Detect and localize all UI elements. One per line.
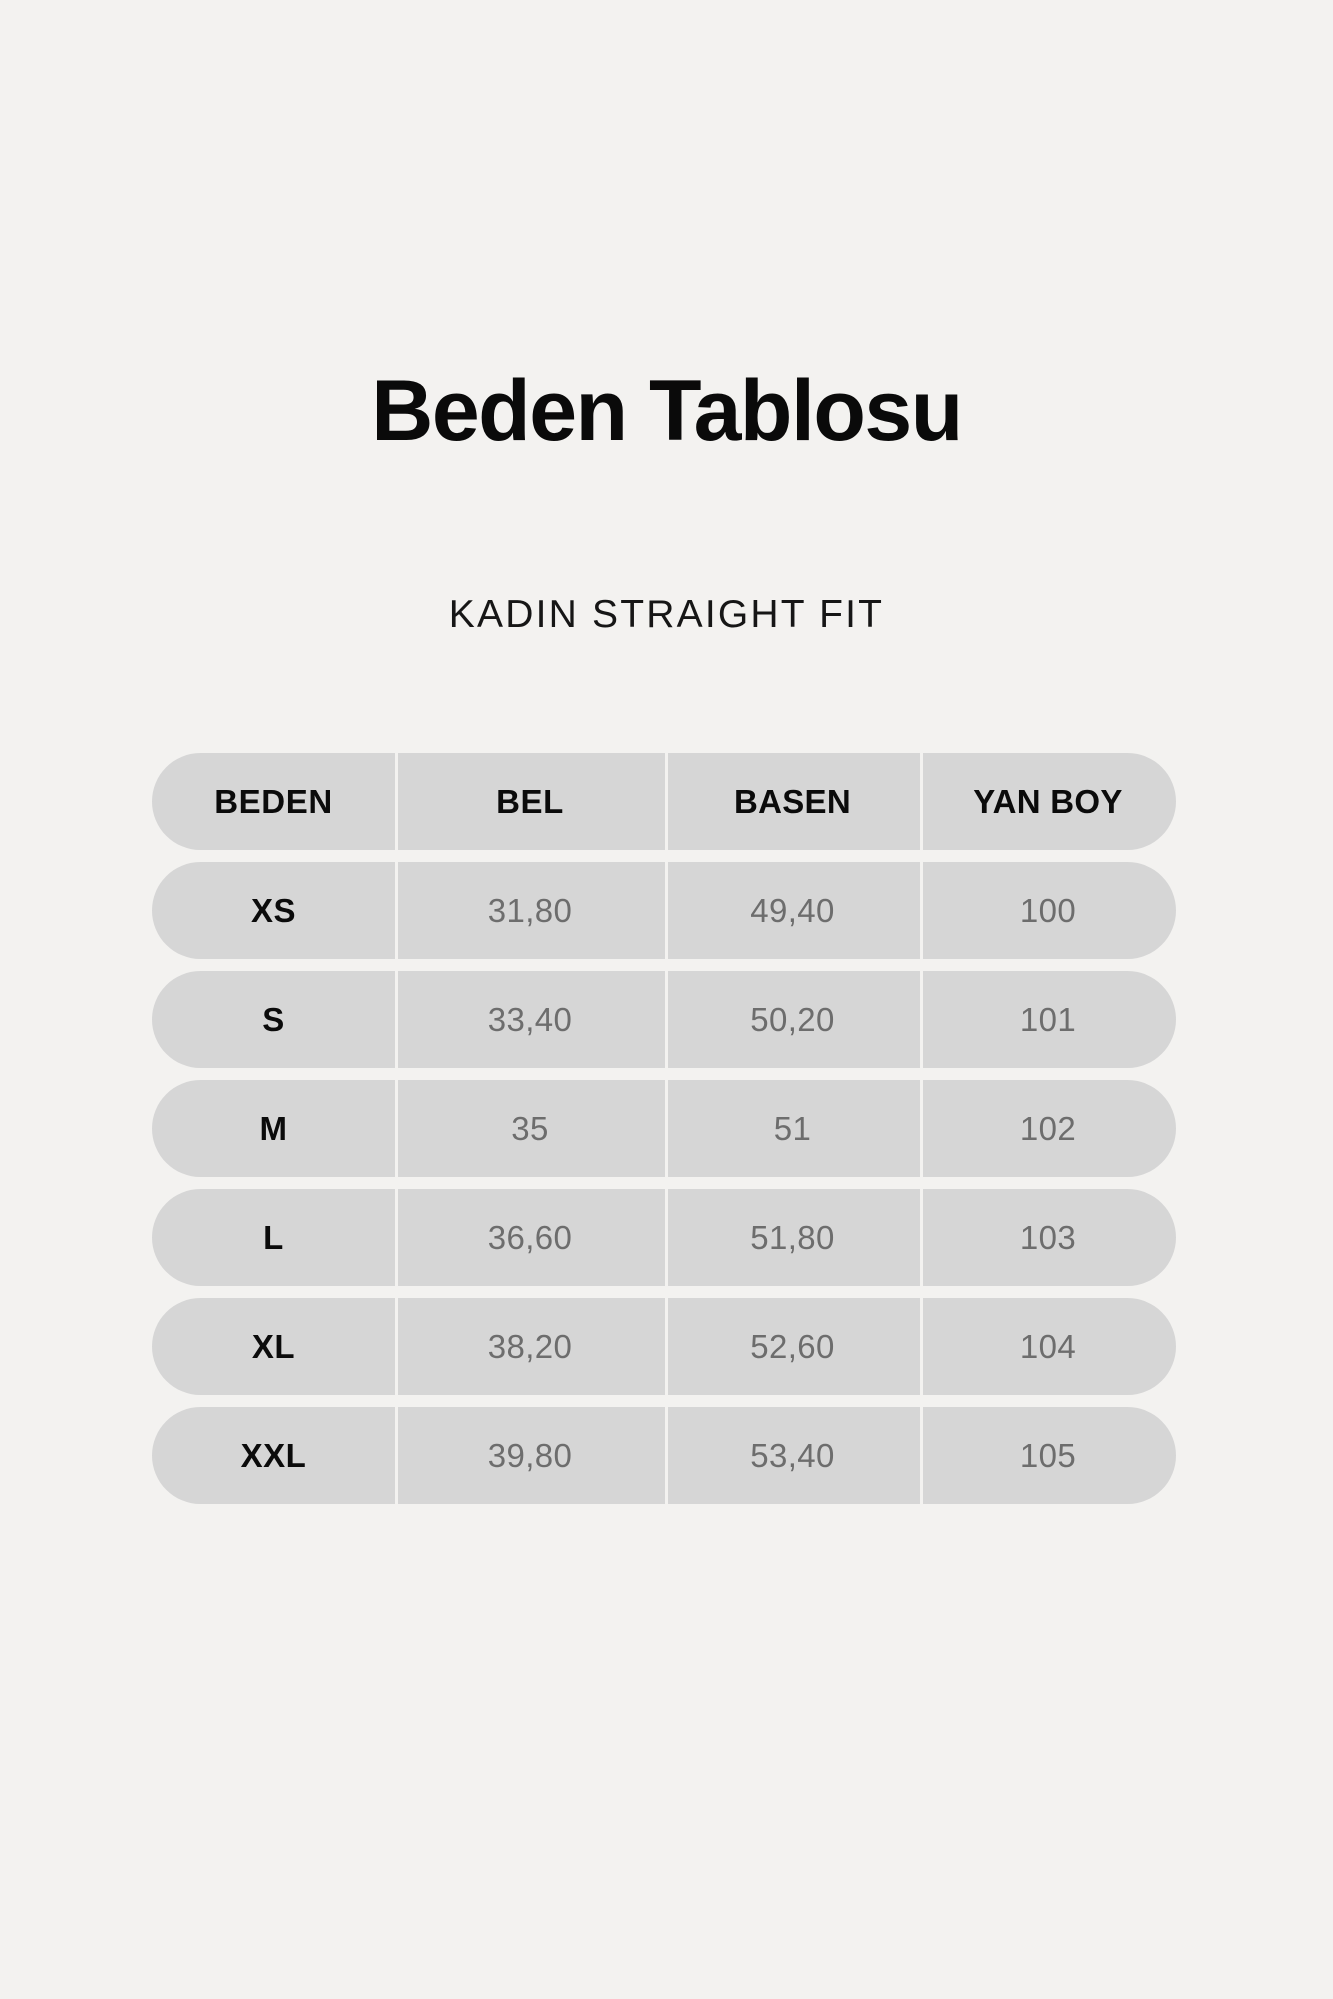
table-row: XL 38,20 52,60 104 — [152, 1298, 1176, 1395]
cell-yan-boy: 100 — [920, 862, 1176, 959]
table-row: L 36,60 51,80 103 — [152, 1189, 1176, 1286]
cell-beden: XXL — [152, 1407, 395, 1504]
cell-bel: 39,80 — [395, 1407, 665, 1504]
table-row: M 35 51 102 — [152, 1080, 1176, 1177]
cell-basen: 51 — [665, 1080, 920, 1177]
table-header-row: BEDEN BEL BASEN YAN BOY — [152, 753, 1176, 850]
page-subtitle: KADIN STRAIGHT FIT — [0, 595, 1333, 634]
cell-basen: 49,40 — [665, 862, 920, 959]
cell-basen: 52,60 — [665, 1298, 920, 1395]
cell-basen: 50,20 — [665, 971, 920, 1068]
cell-yan-boy: 104 — [920, 1298, 1176, 1395]
cell-yan-boy: 102 — [920, 1080, 1176, 1177]
table-row: S 33,40 50,20 101 — [152, 971, 1176, 1068]
cell-yan-boy: 101 — [920, 971, 1176, 1068]
cell-beden: XL — [152, 1298, 395, 1395]
cell-bel: 31,80 — [395, 862, 665, 959]
table-row: XXL 39,80 53,40 105 — [152, 1407, 1176, 1504]
cell-beden: M — [152, 1080, 395, 1177]
column-header-yan-boy: YAN BOY — [920, 753, 1176, 850]
size-chart-page: Beden Tablosu KADIN STRAIGHT FIT BEDEN B… — [0, 0, 1333, 1999]
cell-bel: 33,40 — [395, 971, 665, 1068]
size-table: BEDEN BEL BASEN YAN BOY XS 31,80 49,40 1… — [152, 753, 1176, 1516]
cell-beden: S — [152, 971, 395, 1068]
cell-yan-boy: 105 — [920, 1407, 1176, 1504]
table-row: XS 31,80 49,40 100 — [152, 862, 1176, 959]
cell-yan-boy: 103 — [920, 1189, 1176, 1286]
cell-basen: 53,40 — [665, 1407, 920, 1504]
column-header-bel: BEL — [395, 753, 665, 850]
cell-bel: 38,20 — [395, 1298, 665, 1395]
cell-bel: 36,60 — [395, 1189, 665, 1286]
column-header-beden: BEDEN — [152, 753, 395, 850]
cell-basen: 51,80 — [665, 1189, 920, 1286]
page-title: Beden Tablosu — [0, 368, 1333, 454]
cell-beden: XS — [152, 862, 395, 959]
column-header-basen: BASEN — [665, 753, 920, 850]
cell-beden: L — [152, 1189, 395, 1286]
cell-bel: 35 — [395, 1080, 665, 1177]
